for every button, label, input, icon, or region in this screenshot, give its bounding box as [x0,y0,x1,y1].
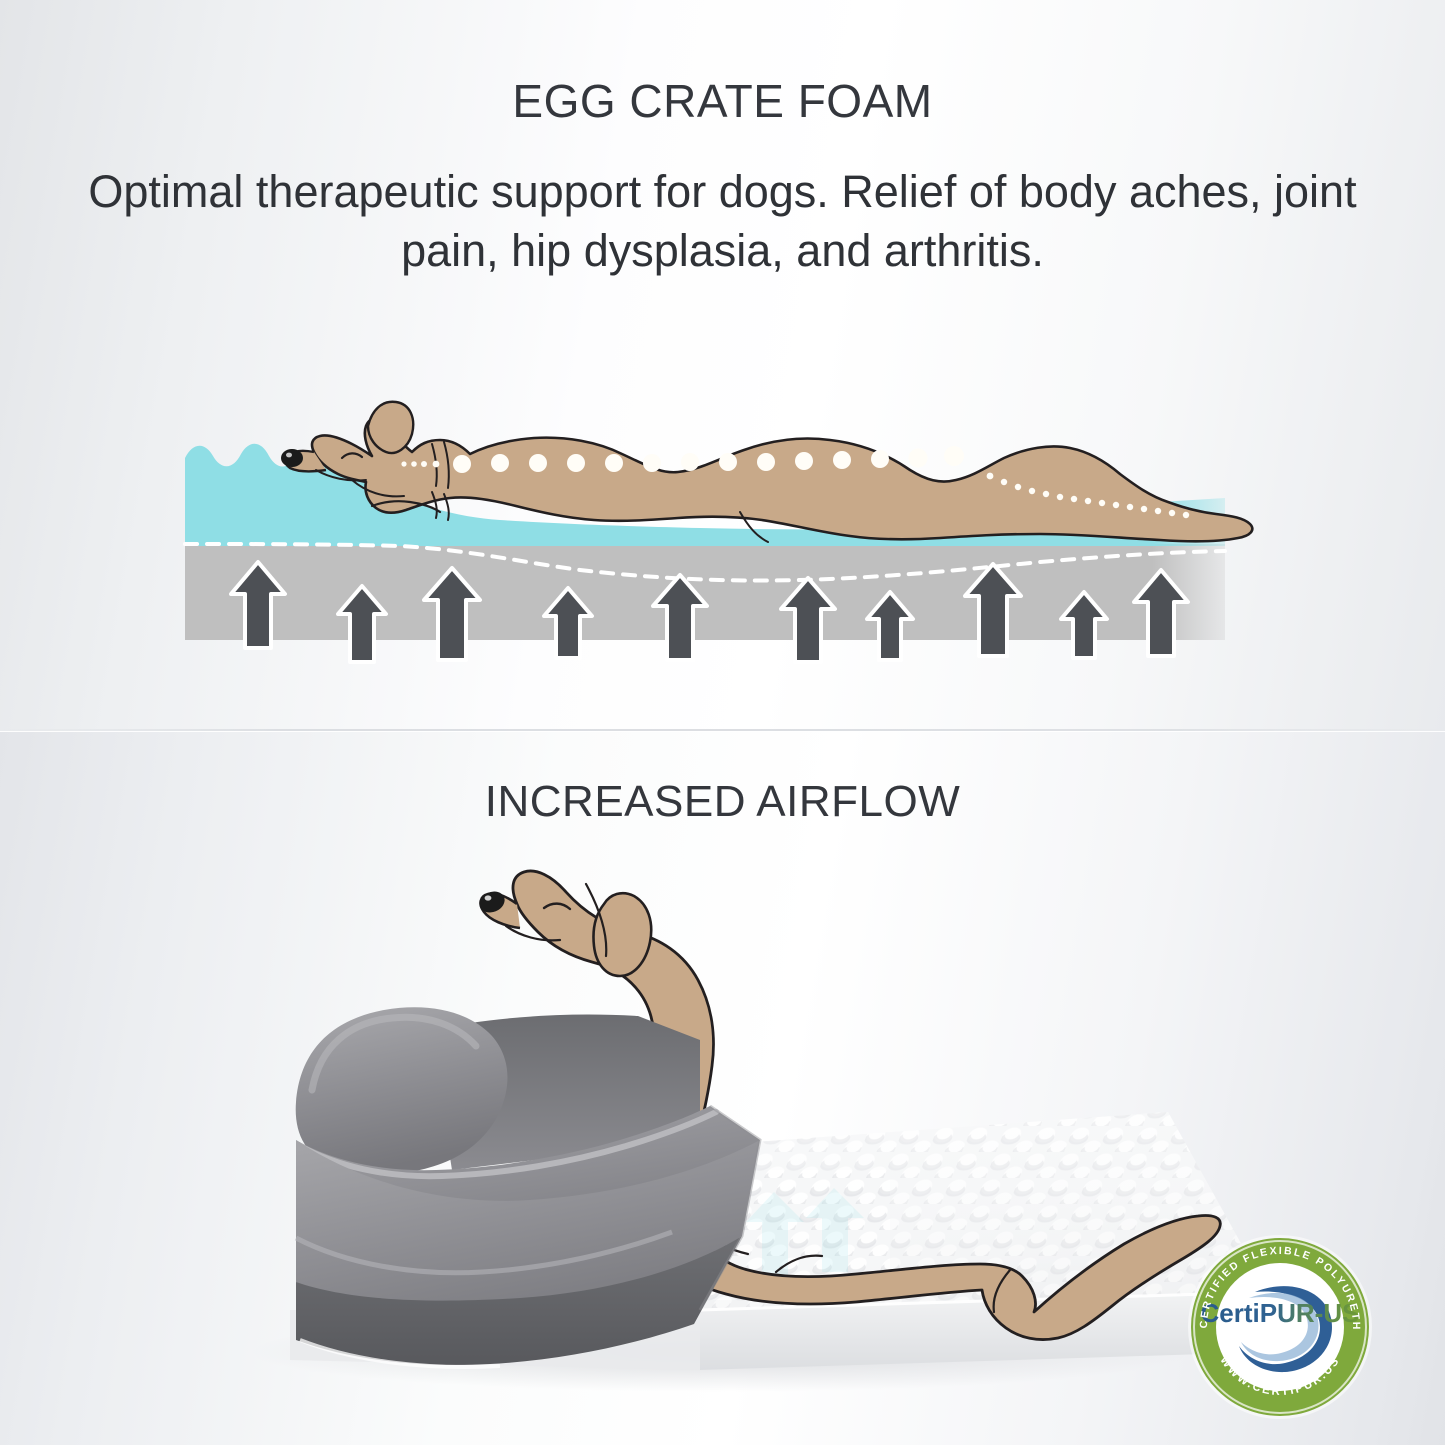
section-divider [0,729,1445,731]
dog-ear [593,893,651,976]
page-title-egg-crate-foam: EGG CRATE FOAM [0,74,1445,128]
certipur-us-seal: CertiPUR-US ® CONTAINS CERTIFIED FLEXIBL… [1185,1232,1375,1422]
seal-brand-text: CertiPUR-US [1201,1298,1360,1328]
subtitle-therapeutic-support: Optimal therapeutic support for dogs. Re… [55,162,1390,281]
dog-nose [281,449,303,467]
page-title-increased-airflow: INCREASED AIRFLOW [0,777,1445,827]
bolster-bed [296,1007,760,1367]
panel-egg-crate-foam: EGG CRATE FOAM Optimal therapeutic suppo… [0,0,1445,731]
infographic-page: EGG CRATE FOAM Optimal therapeutic suppo… [0,0,1445,1445]
diagram-foam-cross-section [0,330,1445,690]
